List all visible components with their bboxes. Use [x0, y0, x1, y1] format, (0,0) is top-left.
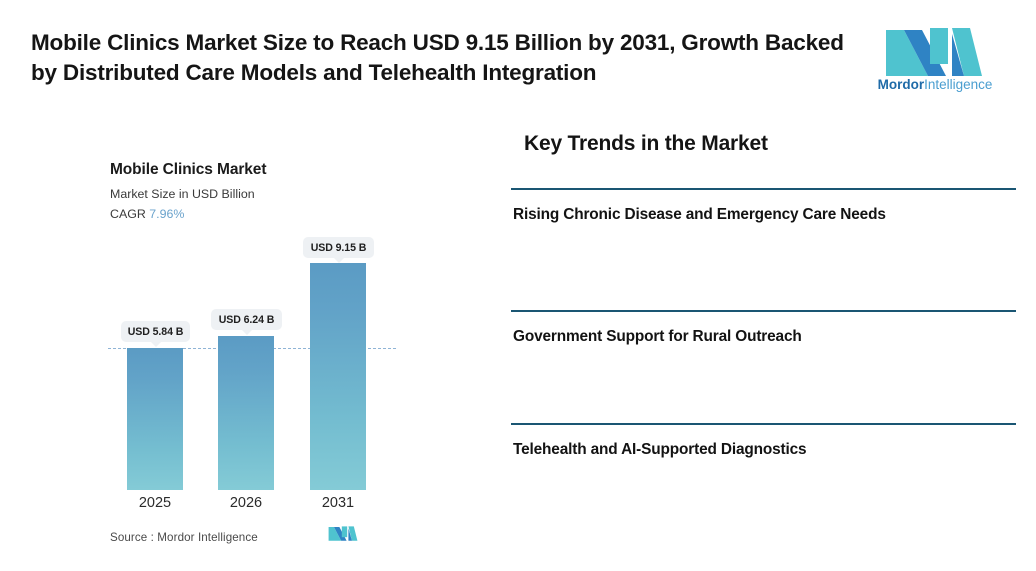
mordor-m-logo-icon [884, 24, 984, 76]
trend-label-2: Government Support for Rural Outreach [513, 328, 802, 346]
data-label-2026: USD 6.24 B [211, 309, 282, 330]
brand-wordmark-light: Intelligence [924, 77, 992, 92]
bar-2026 [218, 336, 274, 490]
trend-item-3: Telehealth and AI-Supported Diagnostics [511, 423, 1016, 515]
page-header: Mobile Clinics Market Size to Reach USD … [0, 0, 1036, 112]
x-tick-2026: 2026 [218, 495, 274, 511]
source-mordor-m-logo-icon [328, 524, 358, 542]
brand-wordmark: MordorIntelligence [876, 78, 994, 92]
data-label-2025: USD 5.84 B [121, 321, 190, 342]
chart-plot-area: USD 5.84 B USD 6.24 B USD 9.15 B 2025 20… [0, 112, 500, 512]
brand-logo: MordorIntelligence [876, 24, 994, 100]
trend-label-3: Telehealth and AI-Supported Diagnostics [513, 441, 806, 459]
bar-2031 [310, 263, 366, 490]
key-trends-panel: Key Trends in the Market Rising Chronic … [511, 112, 1016, 452]
brand-wordmark-bold: Mordor [878, 77, 925, 92]
trend-item-2: Government Support for Rural Outreach [511, 310, 1016, 425]
trend-item-1: Rising Chronic Disease and Emergency Car… [511, 188, 1016, 312]
trend-label-1: Rising Chronic Disease and Emergency Car… [513, 206, 886, 224]
data-label-2031: USD 9.15 B [303, 237, 374, 258]
page-title: Mobile Clinics Market Size to Reach USD … [31, 28, 861, 88]
bar-2025 [127, 348, 183, 490]
market-size-chart: Mobile Clinics Market Market Size in USD… [0, 112, 500, 571]
x-tick-2025: 2025 [127, 495, 183, 511]
chart-source: Source : Mordor Intelligence [110, 531, 258, 544]
key-trends-title: Key Trends in the Market [524, 132, 768, 156]
x-tick-2031: 2031 [310, 495, 366, 511]
